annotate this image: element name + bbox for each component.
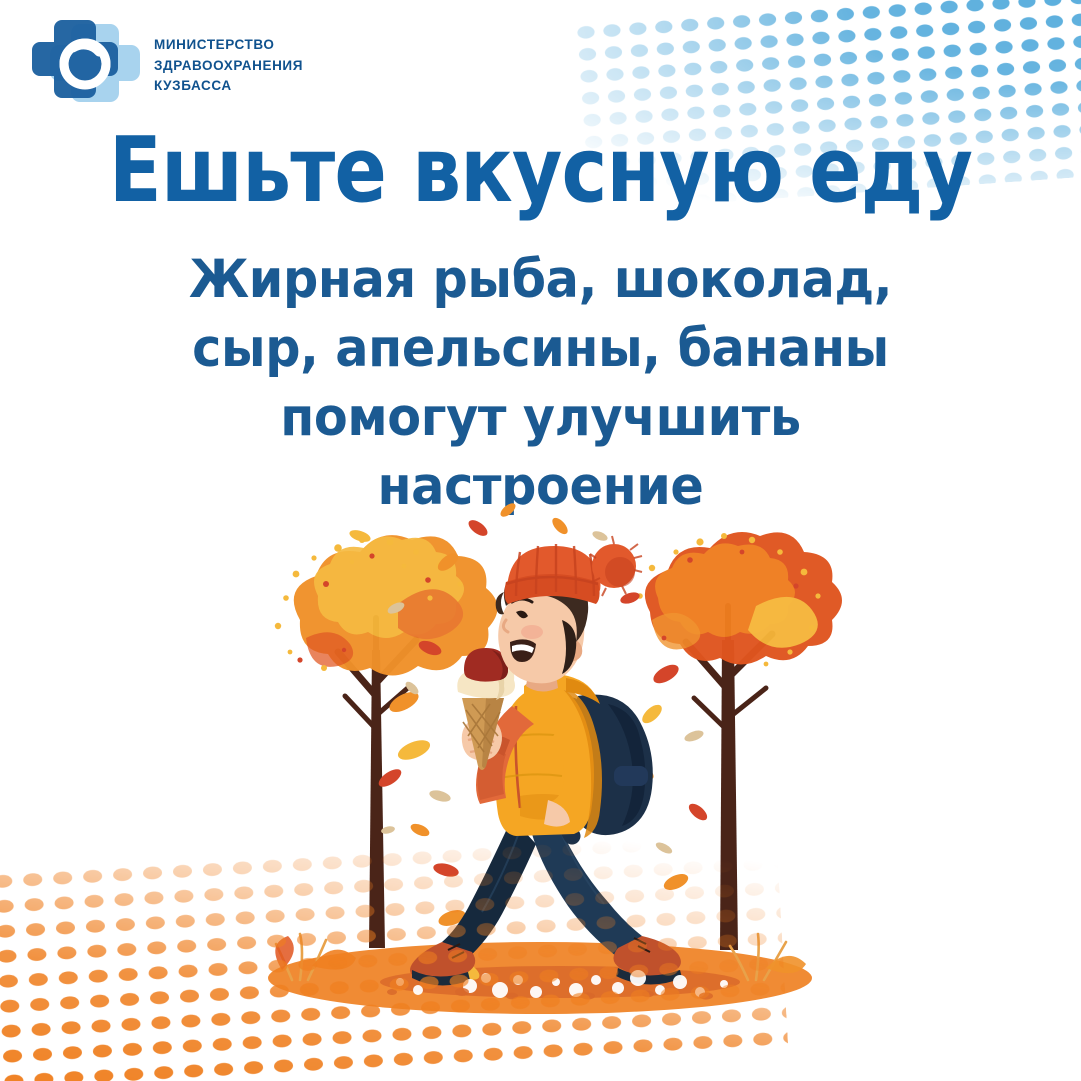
ministry-logo-text: МИНИСТЕРСТВО ЗДРАВООХРАНЕНИЯ КУЗБАССА [154,35,303,97]
ground-ellipse [268,942,812,1014]
knit-hat [504,536,642,604]
ministry-cross-logo [30,14,140,118]
illustration-description: Мальчик в оранжевой шапке с помпоном, жё… [0,0,1,1]
illustration-autumn-walk [0,500,1081,1060]
page-subtitle: Жирная рыба, шоколад, сыр, апельсины, ба… [149,246,931,522]
poster-canvas: МИНИСТЕРСТВО ЗДРАВООХРАНЕНИЯ КУЗБАССА Еш… [0,0,1081,1081]
ministry-logo: МИНИСТЕРСТВО ЗДРАВООХРАНЕНИЯ КУЗБАССА [30,14,303,118]
page-title: Ешьте вкусную еду [76,128,1006,214]
